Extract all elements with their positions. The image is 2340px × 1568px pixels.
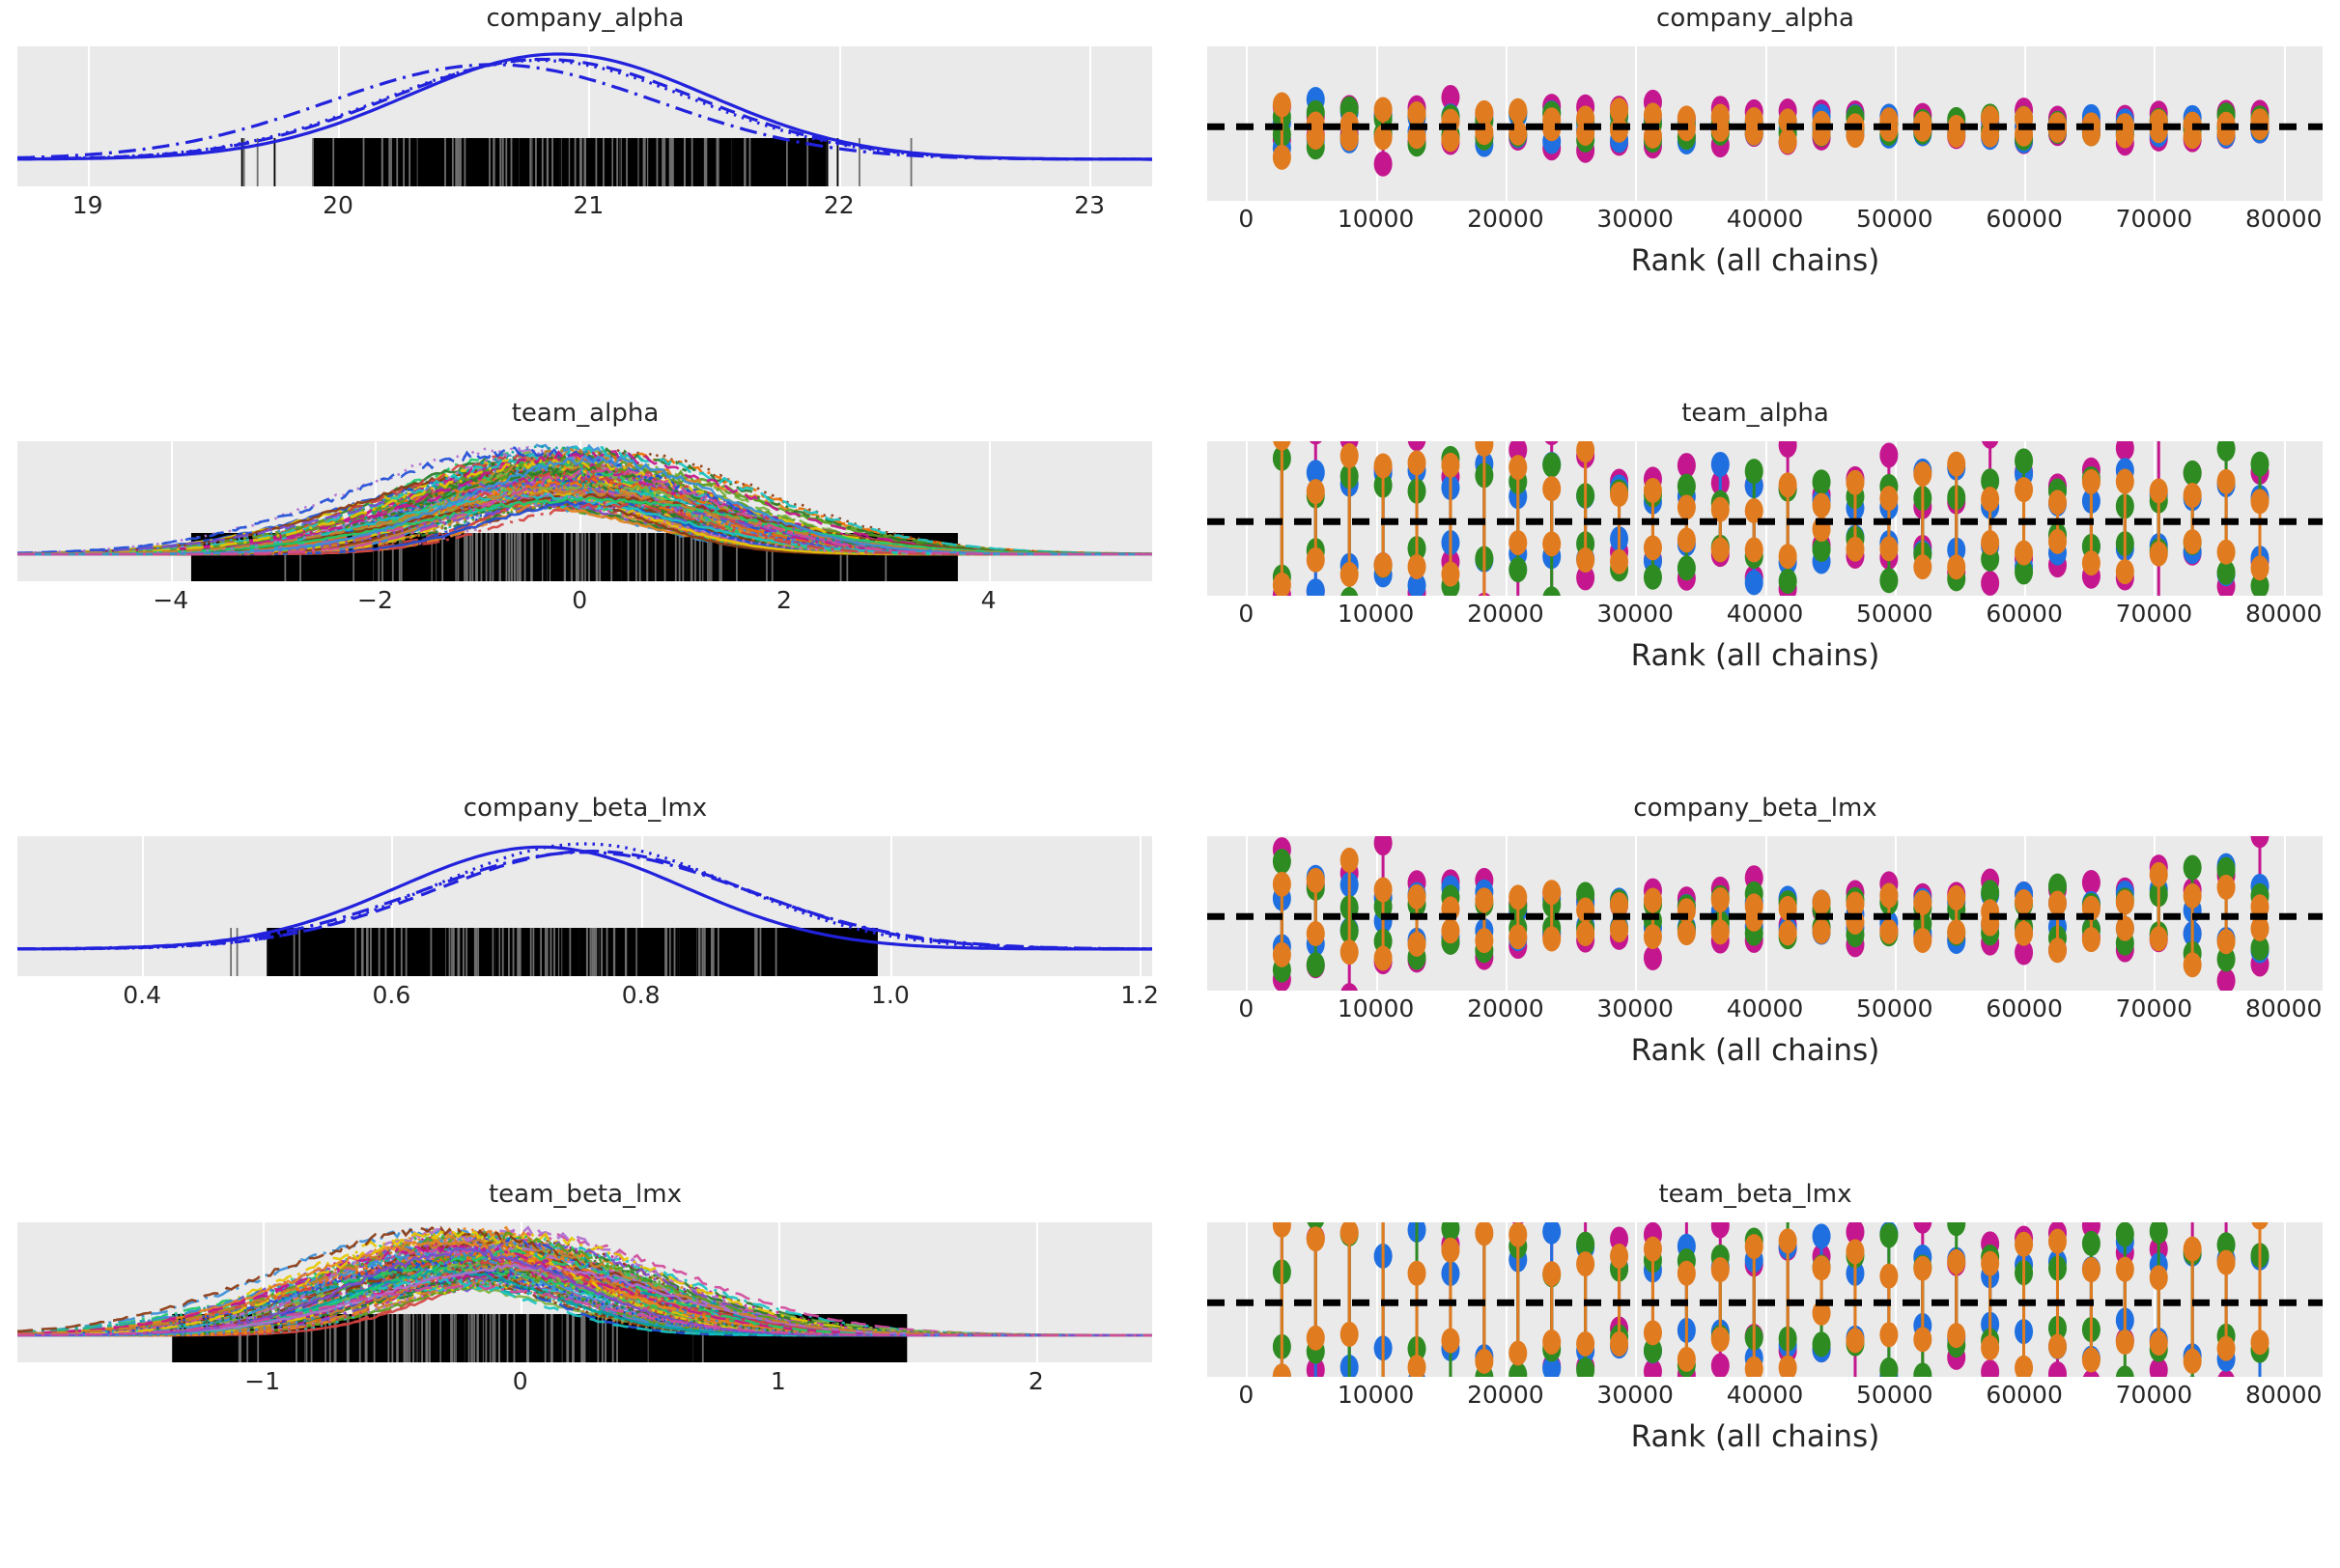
panel-title: company_beta_lmx xyxy=(1170,794,2340,823)
ess-marker xyxy=(1879,1322,1898,1347)
ess-marker xyxy=(1340,939,1359,965)
ess-marker xyxy=(1947,919,1965,944)
ess-marker xyxy=(1610,917,1628,942)
ess-marker xyxy=(1542,476,1561,501)
ess-marker xyxy=(2150,1265,2168,1290)
ess-marker xyxy=(1711,452,1730,477)
ess-marker xyxy=(1779,472,1797,497)
x-tick-label: 10000 xyxy=(1338,205,1415,233)
ess-marker xyxy=(1677,1261,1696,1286)
ess-marker xyxy=(1273,1222,1291,1238)
ess-marker xyxy=(2184,1237,2202,1262)
ess-marker xyxy=(1711,537,1730,562)
ess-marker xyxy=(1913,554,1931,579)
ess-marker xyxy=(1441,562,1459,587)
x-tick-label: 60000 xyxy=(1986,1381,2063,1409)
figure-row-3: team_beta_lmx −1012 team_beta_lmx 010000… xyxy=(0,1176,2340,1568)
x-tick-label: 70000 xyxy=(2116,994,2193,1022)
ess-marker xyxy=(2048,938,2067,963)
ess-marker xyxy=(1711,887,1730,912)
kde-x-tick-labels: −1012 xyxy=(0,1367,1170,1402)
ess-marker xyxy=(1610,118,1628,143)
ess-marker xyxy=(1879,1264,1898,1289)
ess-marker xyxy=(1408,1355,1426,1377)
ess-marker xyxy=(1879,919,1898,944)
ess-marker xyxy=(1813,492,1831,518)
ess-marker xyxy=(1779,920,1797,945)
x-tick-label: 0 xyxy=(513,1367,528,1395)
ess-marker xyxy=(1913,1256,1931,1281)
ess-marker xyxy=(1813,469,1831,494)
ess-marker xyxy=(1273,93,1291,118)
ess-marker xyxy=(1947,1249,1965,1274)
ess-marker xyxy=(2082,469,2100,494)
x-tick-label: 20000 xyxy=(1467,205,1544,233)
ess-marker xyxy=(1475,1349,1493,1374)
ess-marker xyxy=(1610,1331,1628,1357)
ess-marker xyxy=(2048,118,2067,143)
ess-marker xyxy=(1408,932,1426,957)
ess-marker xyxy=(1813,1331,1831,1357)
kde-curves xyxy=(17,836,1152,976)
ess-marker xyxy=(1307,1226,1325,1251)
x-tick-label: 60000 xyxy=(1986,994,2063,1022)
ess-marker xyxy=(1813,919,1831,944)
kde-curves xyxy=(17,441,1152,581)
ess-marker xyxy=(1374,836,1393,855)
ess-marker xyxy=(1542,1330,1561,1355)
x-axis-label: Rank (all chains) xyxy=(1170,1419,2340,1454)
x-axis-label: Rank (all chains) xyxy=(1170,638,2340,673)
ess-marker xyxy=(2184,461,2202,486)
ess-marker xyxy=(1307,441,1325,444)
figure-row-2: company_beta_lmx 0.40.60.81.01.2 company… xyxy=(0,790,2340,1182)
ess-marker xyxy=(2048,1229,2067,1254)
panel-team-beta-lmx-kde: team_beta_lmx −1012 xyxy=(0,1176,1170,1568)
x-tick-label: 80000 xyxy=(2245,205,2323,233)
ess-marker xyxy=(1677,555,1696,580)
ess-marker xyxy=(1475,1222,1493,1246)
rank-ess-markers xyxy=(1207,441,2323,596)
ess-marker xyxy=(2150,118,2168,143)
x-tick-label: 23 xyxy=(1074,191,1105,219)
ess-marker xyxy=(1779,544,1797,569)
kde-axes xyxy=(17,441,1152,581)
ess-marker xyxy=(2250,1330,2269,1355)
ess-marker xyxy=(1879,1222,1898,1247)
ess-marker xyxy=(2250,916,2269,941)
x-tick-label: 70000 xyxy=(2116,205,2193,233)
x-tick-label: 30000 xyxy=(1596,994,1674,1022)
ess-marker xyxy=(2048,529,2067,554)
ess-marker xyxy=(1542,453,1561,478)
ess-marker xyxy=(2150,542,2168,567)
ess-marker xyxy=(2217,1336,2236,1361)
ess-marker xyxy=(1408,101,1426,126)
ess-marker xyxy=(1644,565,1662,590)
kde-axes xyxy=(17,1222,1152,1362)
ess-marker xyxy=(1610,1244,1628,1269)
panel-company-beta-lmx-rank: company_beta_lmx 01000020000300004000050… xyxy=(1170,790,2340,1182)
ess-marker xyxy=(2217,441,2236,462)
x-tick-label: 0.6 xyxy=(372,981,410,1009)
ess-marker xyxy=(1913,1222,1931,1234)
ess-marker xyxy=(1913,462,1931,487)
x-tick-label: 0 xyxy=(1238,994,1254,1022)
ess-marker xyxy=(1542,441,1561,445)
rank-axes xyxy=(1207,46,2323,201)
rank-ess-markers xyxy=(1207,836,2323,991)
ess-marker xyxy=(1745,537,1763,562)
x-tick-label: 30000 xyxy=(1596,1381,1674,1409)
ess-marker xyxy=(1947,554,1965,579)
ess-marker xyxy=(2048,1334,2067,1359)
x-tick-label: 50000 xyxy=(1856,600,1933,628)
x-tick-label: 80000 xyxy=(2245,994,2323,1022)
ess-marker xyxy=(1475,928,1493,953)
ess-marker xyxy=(1879,568,1898,593)
x-tick-label: 0 xyxy=(1238,600,1254,628)
ess-marker xyxy=(1441,1238,1459,1263)
ess-marker xyxy=(1374,946,1393,971)
ess-marker xyxy=(1711,1354,1730,1377)
x-tick-label: −2 xyxy=(357,586,393,614)
panel-title: company_beta_lmx xyxy=(0,794,1170,823)
x-tick-label: 40000 xyxy=(1727,600,1804,628)
panel-company-alpha-rank: company_alpha 01000020000300004000050000… xyxy=(1170,0,2340,392)
x-tick-label: 0 xyxy=(572,586,587,614)
x-tick-label: 60000 xyxy=(1986,205,2063,233)
ess-marker xyxy=(2082,550,2100,575)
x-tick-label: 0 xyxy=(1238,1381,1254,1409)
ess-marker xyxy=(1610,482,1628,507)
ess-marker xyxy=(2250,452,2269,477)
ess-marker xyxy=(1273,441,1291,451)
ess-marker xyxy=(2184,855,2202,881)
ess-marker xyxy=(1340,587,1359,596)
ess-marker xyxy=(1307,479,1325,504)
x-tick-label: 80000 xyxy=(2245,1381,2323,1409)
ess-marker xyxy=(2082,1257,2100,1282)
ess-marker xyxy=(1610,549,1628,574)
x-tick-label: 70000 xyxy=(2116,1381,2193,1409)
x-tick-label: 60000 xyxy=(1986,600,2063,628)
ess-marker xyxy=(1542,880,1561,905)
panel-title: team_beta_lmx xyxy=(0,1180,1170,1209)
ess-marker xyxy=(1711,1327,1730,1352)
ess-marker xyxy=(1508,1340,1527,1365)
x-tick-label: −4 xyxy=(153,586,188,614)
rank-axes xyxy=(1207,1222,2323,1377)
ess-marker xyxy=(1542,1222,1561,1245)
ess-marker xyxy=(2184,1349,2202,1374)
x-tick-label: 30000 xyxy=(1596,205,1674,233)
ess-marker xyxy=(1947,452,1965,477)
x-tick-label: 2 xyxy=(1029,1367,1044,1395)
ess-marker xyxy=(2048,1361,2067,1377)
ess-marker xyxy=(1408,1261,1426,1286)
ess-marker xyxy=(1340,562,1359,587)
mcmc-diagnostic-figure: company_alpha 1920212223 company_alpha 0… xyxy=(0,0,2340,1567)
x-tick-label: 2 xyxy=(776,586,792,614)
ess-marker xyxy=(1374,454,1393,479)
ess-marker xyxy=(1408,441,1426,451)
ess-marker xyxy=(1947,1222,1965,1236)
ess-marker xyxy=(1981,1251,1999,1276)
x-tick-label: 40000 xyxy=(1727,994,1804,1022)
ess-marker xyxy=(2184,1376,2202,1377)
x-tick-label: 10000 xyxy=(1338,994,1415,1022)
ess-marker xyxy=(2250,1222,2269,1230)
ess-marker xyxy=(1408,884,1426,910)
panel-title: company_alpha xyxy=(0,4,1170,33)
panel-team-beta-lmx-rank: team_beta_lmx 01000020000300004000050000… xyxy=(1170,1176,2340,1568)
x-tick-label: 70000 xyxy=(2116,600,2193,628)
ess-marker xyxy=(1677,920,1696,945)
ess-marker xyxy=(1981,530,1999,555)
ess-marker xyxy=(1408,450,1426,475)
panel-company-beta-lmx-kde: company_beta_lmx 0.40.60.81.01.2 xyxy=(0,790,1170,1182)
ess-marker xyxy=(1374,152,1393,177)
ess-marker xyxy=(1307,921,1325,946)
panel-title: team_alpha xyxy=(0,399,1170,428)
ess-marker xyxy=(2217,1250,2236,1275)
ess-marker xyxy=(1576,1251,1594,1276)
x-tick-label: 0.4 xyxy=(123,981,161,1009)
x-tick-label: 80000 xyxy=(2245,600,2323,628)
ess-marker xyxy=(2015,1232,2033,1257)
ess-marker xyxy=(2116,559,2134,584)
rank-ess-markers xyxy=(1207,46,2323,201)
ess-marker xyxy=(1846,1328,1864,1353)
ess-marker xyxy=(2116,1222,2134,1246)
x-axis-label: Rank (all chains) xyxy=(1170,243,2340,278)
ess-marker xyxy=(1779,569,1797,594)
ess-marker xyxy=(1981,1359,1999,1377)
ess-marker xyxy=(2184,883,2202,909)
ess-marker xyxy=(2217,929,2236,954)
ess-marker xyxy=(2082,1231,2100,1256)
kde-x-tick-labels: 1920212223 xyxy=(0,191,1170,226)
ess-marker xyxy=(2116,1330,2134,1355)
ess-marker xyxy=(2015,1356,2033,1377)
x-tick-label: 50000 xyxy=(1856,994,1933,1022)
ess-marker xyxy=(1542,586,1561,596)
ess-marker xyxy=(1441,453,1459,478)
ess-marker xyxy=(1947,1323,1965,1348)
ess-marker xyxy=(1711,919,1730,944)
x-tick-label: 10000 xyxy=(1338,1381,1415,1409)
ess-marker xyxy=(1374,878,1393,903)
panel-title: team_alpha xyxy=(1170,399,2340,428)
ess-marker xyxy=(1846,537,1864,562)
ess-marker xyxy=(1711,1222,1730,1238)
ess-marker xyxy=(2015,477,2033,502)
ess-marker xyxy=(1813,890,1831,915)
rank-ess-markers xyxy=(1207,1222,2323,1377)
ess-marker xyxy=(2250,555,2269,580)
ess-marker xyxy=(1879,536,1898,561)
rank-x-tick-labels: 0100002000030000400005000060000700008000… xyxy=(1170,205,2340,239)
ess-marker xyxy=(1374,98,1393,123)
ess-marker xyxy=(2217,540,2236,565)
ess-marker xyxy=(1913,1327,1931,1352)
x-tick-label: 40000 xyxy=(1727,1381,1804,1409)
x-tick-label: 50000 xyxy=(1856,1381,1933,1409)
ess-marker xyxy=(1508,1222,1527,1247)
ess-marker xyxy=(1374,552,1393,577)
ess-marker xyxy=(1307,952,1325,977)
panel-team-alpha-rank: team_alpha 01000020000300004000050000600… xyxy=(1170,395,2340,787)
ess-marker xyxy=(1644,924,1662,949)
ess-marker xyxy=(1508,530,1527,555)
x-tick-label: 1.0 xyxy=(871,981,910,1009)
ess-marker xyxy=(1644,478,1662,503)
ess-marker xyxy=(1981,441,1999,449)
ess-marker xyxy=(1475,441,1493,457)
ess-marker xyxy=(1913,890,1931,915)
ess-marker xyxy=(1846,1239,1864,1264)
ess-marker xyxy=(1508,455,1527,480)
ess-marker xyxy=(1745,570,1763,595)
ess-marker xyxy=(2250,489,2269,514)
ess-marker xyxy=(1273,1363,1291,1377)
kde-curves xyxy=(17,46,1152,186)
panel-company-alpha-kde: company_alpha 1920212223 xyxy=(0,0,1170,392)
ess-marker xyxy=(1644,1320,1662,1345)
ess-marker xyxy=(1307,578,1325,596)
ess-marker xyxy=(2150,862,2168,887)
ess-marker xyxy=(2116,890,2134,915)
ess-marker xyxy=(1441,1328,1459,1353)
ess-marker xyxy=(1273,872,1291,897)
x-tick-label: 19 xyxy=(72,191,103,219)
ess-marker xyxy=(1913,1362,1931,1377)
x-tick-label: 20000 xyxy=(1467,994,1544,1022)
ess-marker xyxy=(1677,494,1696,519)
x-tick-label: 1.2 xyxy=(1120,981,1159,1009)
ess-marker xyxy=(2217,469,2236,494)
ess-marker xyxy=(2082,927,2100,952)
ess-marker xyxy=(1576,921,1594,946)
x-axis-label: Rank (all chains) xyxy=(1170,1033,2340,1068)
ess-marker xyxy=(1745,459,1763,484)
ess-marker xyxy=(2048,891,2067,916)
ess-marker xyxy=(2250,836,2269,848)
ess-marker xyxy=(1542,926,1561,951)
ess-marker xyxy=(1644,1237,1662,1262)
kde-axes xyxy=(17,836,1152,976)
ess-marker xyxy=(2015,921,2033,946)
ess-marker xyxy=(1542,1261,1561,1286)
figure-row-1: team_alpha −4−2024 team_alpha 0100002000… xyxy=(0,395,2340,787)
ess-marker xyxy=(1947,885,1965,910)
rank-x-tick-labels: 0100002000030000400005000060000700008000… xyxy=(1170,1381,2340,1415)
ess-marker xyxy=(2116,469,2134,494)
ess-marker xyxy=(2116,1365,2134,1377)
ess-marker xyxy=(1813,1223,1831,1248)
ess-marker xyxy=(1779,1228,1797,1253)
ess-marker xyxy=(1408,554,1426,579)
ess-marker xyxy=(2217,875,2236,900)
ess-marker xyxy=(1913,928,1931,953)
ess-marker xyxy=(1542,531,1561,556)
ess-marker xyxy=(1441,918,1459,943)
rank-x-tick-labels: 0100002000030000400005000060000700008000… xyxy=(1170,600,2340,634)
ess-marker xyxy=(1307,868,1325,893)
ess-marker xyxy=(1813,1255,1831,1280)
ess-marker xyxy=(1340,983,1359,991)
ess-marker xyxy=(2082,1348,2100,1373)
ess-marker xyxy=(1340,848,1359,873)
x-tick-label: 1 xyxy=(771,1367,786,1395)
ess-marker xyxy=(1273,849,1291,874)
x-tick-label: 0 xyxy=(1238,205,1254,233)
kde-x-tick-labels: −4−2024 xyxy=(0,586,1170,621)
ess-marker xyxy=(1981,487,1999,512)
x-tick-label: 20000 xyxy=(1467,600,1544,628)
ess-marker xyxy=(1711,1257,1730,1282)
ess-marker xyxy=(1677,1347,1696,1372)
ess-marker xyxy=(1307,547,1325,573)
kde-x-tick-labels: 0.40.60.81.01.2 xyxy=(0,981,1170,1016)
ess-marker xyxy=(2015,889,2033,914)
ess-marker xyxy=(1508,557,1527,582)
ess-marker xyxy=(1879,486,1898,511)
x-tick-label: 40000 xyxy=(1727,205,1804,233)
ess-marker xyxy=(1779,441,1797,458)
ess-marker xyxy=(2184,483,2202,508)
ess-marker xyxy=(2150,926,2168,951)
panel-title: team_beta_lmx xyxy=(1170,1180,2340,1209)
ess-marker xyxy=(1981,1335,1999,1360)
ess-marker xyxy=(1508,884,1527,910)
x-tick-label: 50000 xyxy=(1856,205,1933,233)
figure-row-0: company_alpha 1920212223 company_alpha 0… xyxy=(0,0,2340,392)
ess-marker xyxy=(1307,1326,1325,1351)
x-tick-label: 21 xyxy=(573,191,604,219)
ess-marker xyxy=(1846,470,1864,495)
ess-marker xyxy=(1981,571,1999,596)
ess-marker xyxy=(1576,547,1594,573)
x-tick-label: −1 xyxy=(244,1367,280,1395)
kde-curves xyxy=(17,1222,1152,1362)
ess-marker xyxy=(1340,443,1359,468)
ess-marker xyxy=(1273,145,1291,170)
x-tick-label: 22 xyxy=(824,191,855,219)
ess-marker xyxy=(1745,1234,1763,1259)
ess-marker xyxy=(1508,98,1527,124)
ess-marker xyxy=(1677,527,1696,552)
ess-marker xyxy=(1508,924,1527,949)
rug-dense-block xyxy=(267,928,878,976)
ess-marker xyxy=(1879,883,1898,909)
x-tick-label: 0.8 xyxy=(622,981,661,1009)
ess-marker xyxy=(1340,1322,1359,1347)
ess-marker xyxy=(1441,126,1459,152)
rank-x-tick-labels: 0100002000030000400005000060000700008000… xyxy=(1170,994,2340,1029)
ess-marker xyxy=(2048,490,2067,515)
ess-marker xyxy=(1576,1331,1594,1357)
rank-axes xyxy=(1207,441,2323,596)
ess-marker xyxy=(2015,541,2033,566)
ess-marker xyxy=(1644,887,1662,912)
ess-marker xyxy=(1879,1358,1898,1377)
x-tick-label: 4 xyxy=(981,586,997,614)
ess-marker xyxy=(2015,448,2033,473)
rank-axes xyxy=(1207,836,2323,991)
ess-marker xyxy=(1475,887,1493,912)
